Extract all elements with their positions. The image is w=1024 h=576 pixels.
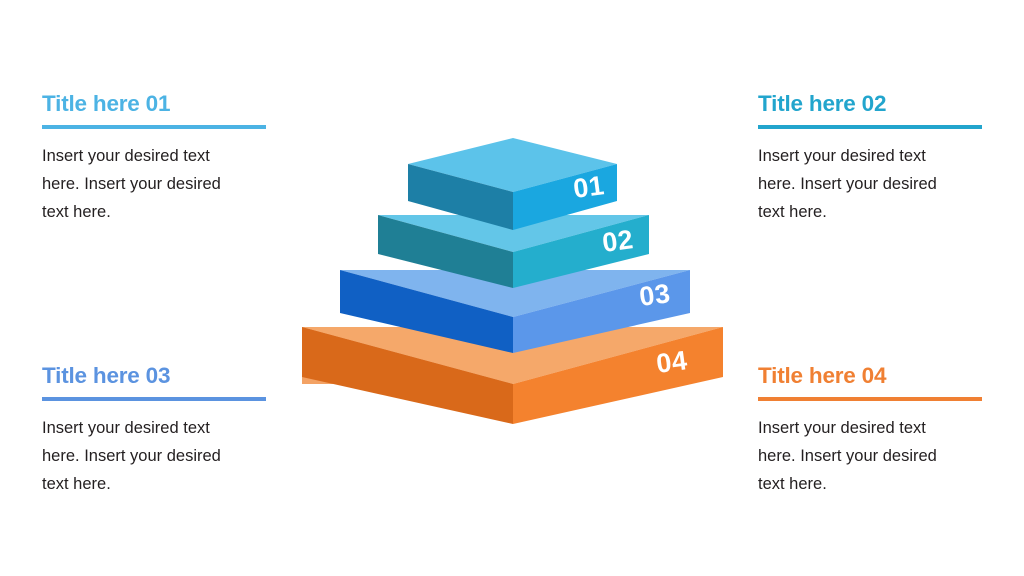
- text-block-03[interactable]: Title here 03 Insert your desired text h…: [42, 364, 274, 498]
- pyramid-level-01[interactable]: 01: [408, 138, 617, 230]
- text-block-04-rule: [758, 397, 982, 401]
- level-01-top-face: [408, 138, 617, 192]
- level-04-right-face: [513, 327, 723, 424]
- level-02-left-face: [378, 215, 513, 288]
- text-block-01-title: Title here 01: [42, 92, 274, 116]
- level-02-right-face: [513, 215, 649, 288]
- text-block-02-title: Title here 02: [758, 92, 990, 116]
- pyramid-level-03[interactable]: 03: [340, 270, 690, 353]
- text-block-01-body: Insert your desired text here. Insert yo…: [42, 142, 252, 226]
- level-04-top-face-left: [302, 327, 513, 384]
- pyramid-level-02[interactable]: 02: [378, 215, 649, 288]
- text-block-01[interactable]: Title here 01 Insert your desired text h…: [42, 92, 274, 226]
- level-04-number: 04: [654, 345, 689, 379]
- slide-canvas: 04 03 02 01: [0, 0, 1024, 576]
- level-03-top-face: [340, 270, 690, 317]
- text-block-02-body: Insert your desired text here. Insert yo…: [758, 142, 968, 226]
- level-04-left-face: [302, 327, 513, 424]
- level-03-right-face: [513, 270, 690, 353]
- level-01-number: 01: [571, 170, 606, 204]
- text-block-01-rule: [42, 125, 266, 129]
- level-01-right-face: [513, 164, 617, 230]
- level-02-number: 02: [600, 224, 635, 258]
- text-block-02-rule: [758, 125, 982, 129]
- text-block-03-title: Title here 03: [42, 364, 274, 388]
- level-02-top-face: [378, 215, 649, 252]
- text-block-03-rule: [42, 397, 266, 401]
- text-block-04-body: Insert your desired text here. Insert yo…: [758, 414, 968, 498]
- text-block-04-title: Title here 04: [758, 364, 990, 388]
- pyramid-level-04[interactable]: 04: [302, 327, 723, 424]
- level-01-left-face: [408, 164, 513, 230]
- level-03-number: 03: [637, 278, 672, 312]
- text-block-03-body: Insert your desired text here. Insert yo…: [42, 414, 252, 498]
- text-block-02[interactable]: Title here 02 Insert your desired text h…: [758, 92, 990, 226]
- level-04-top-face: [302, 327, 723, 384]
- text-block-04[interactable]: Title here 04 Insert your desired text h…: [758, 364, 990, 498]
- level-03-left-face: [340, 270, 513, 353]
